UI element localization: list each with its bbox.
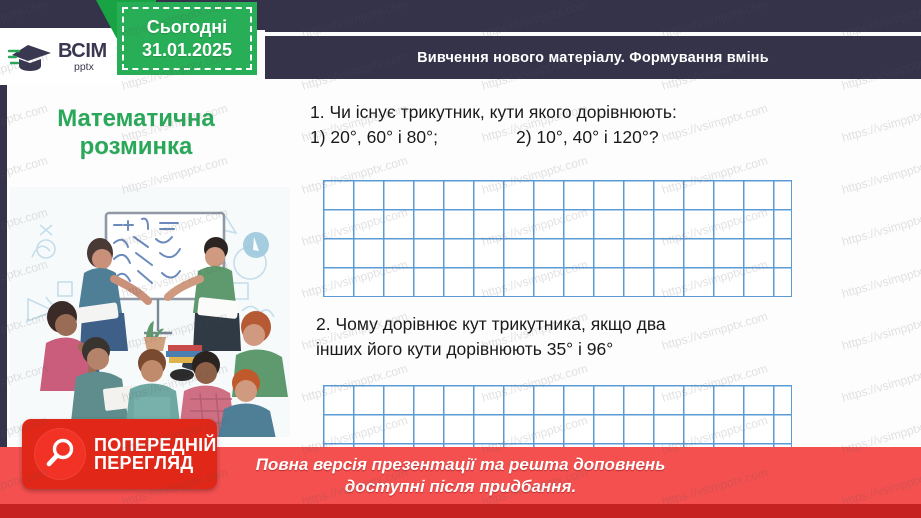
question-2-line1: 2. Чому дорівнює кут трикутника, якщо дв… bbox=[316, 312, 826, 337]
brand-title: ВСІМ bbox=[58, 41, 107, 61]
banner-line1: Повна версія презентації та решта доповн… bbox=[256, 454, 666, 475]
graduation-cap-icon bbox=[8, 40, 54, 74]
preview-button-line1: ПОПЕРЕДНІЙ bbox=[94, 436, 217, 454]
question-1: 1. Чи існує трикутник, кути якого дорівн… bbox=[310, 100, 830, 150]
slide-canvas: Вивчення нового матеріалу. Формування вм… bbox=[0, 0, 921, 518]
question-1-text: Чи існує трикутник, кути якого дорівнюют… bbox=[329, 102, 676, 122]
question-2-line2: інших його кути дорівнюють 35° і 96° bbox=[316, 337, 826, 362]
students-math-classroom-illustration bbox=[10, 187, 290, 437]
question-1-option-a: 1) 20°, 60° і 80°; bbox=[310, 125, 516, 150]
top-band-right bbox=[265, 0, 921, 32]
date-badge-date: 31.01.2025 bbox=[142, 40, 232, 61]
brand-subtitle: pptx bbox=[74, 62, 107, 73]
date-badge-label: Сьогодні bbox=[147, 17, 227, 38]
question-1-options: 1) 20°, 60° і 80°; 2) 10°, 40° і 120°? bbox=[310, 125, 830, 150]
question-1-option-b: 2) 10°, 40° і 120°? bbox=[516, 125, 659, 150]
left-edge-strip bbox=[0, 85, 7, 460]
question-1-number: 1. bbox=[310, 102, 325, 122]
question-1-line1: 1. Чи існує трикутник, кути якого дорівн… bbox=[310, 100, 830, 125]
date-badge: Сьогодні 31.01.2025 bbox=[117, 2, 257, 75]
banner-line2: доступні після придбання. bbox=[345, 476, 576, 497]
magnifier-icon bbox=[34, 428, 86, 480]
header-bar: Вивчення нового матеріалу. Формування вм… bbox=[265, 36, 921, 79]
question-2: 2. Чому дорівнює кут трикутника, якщо дв… bbox=[316, 312, 826, 363]
left-title-line2: розминка bbox=[7, 133, 265, 161]
preview-button-label: ПОПЕРЕДНІЙ ПЕРЕГЛЯД bbox=[94, 436, 217, 473]
brand-logo: ВСІМ pptx bbox=[0, 28, 130, 85]
answer-grid-top[interactable] bbox=[323, 180, 792, 297]
left-title-line1: Математична bbox=[7, 105, 265, 133]
preview-button-line2: ПЕРЕГЛЯД bbox=[94, 454, 217, 472]
header-title: Вивчення нового матеріалу. Формування вм… bbox=[417, 50, 769, 66]
preview-button[interactable]: ПОПЕРЕДНІЙ ПЕРЕГЛЯД bbox=[22, 419, 217, 489]
left-panel-title: Математична розминка bbox=[7, 105, 265, 162]
banner-footer-strip bbox=[0, 504, 921, 518]
brand-wordmark: ВСІМ pptx bbox=[58, 41, 107, 73]
